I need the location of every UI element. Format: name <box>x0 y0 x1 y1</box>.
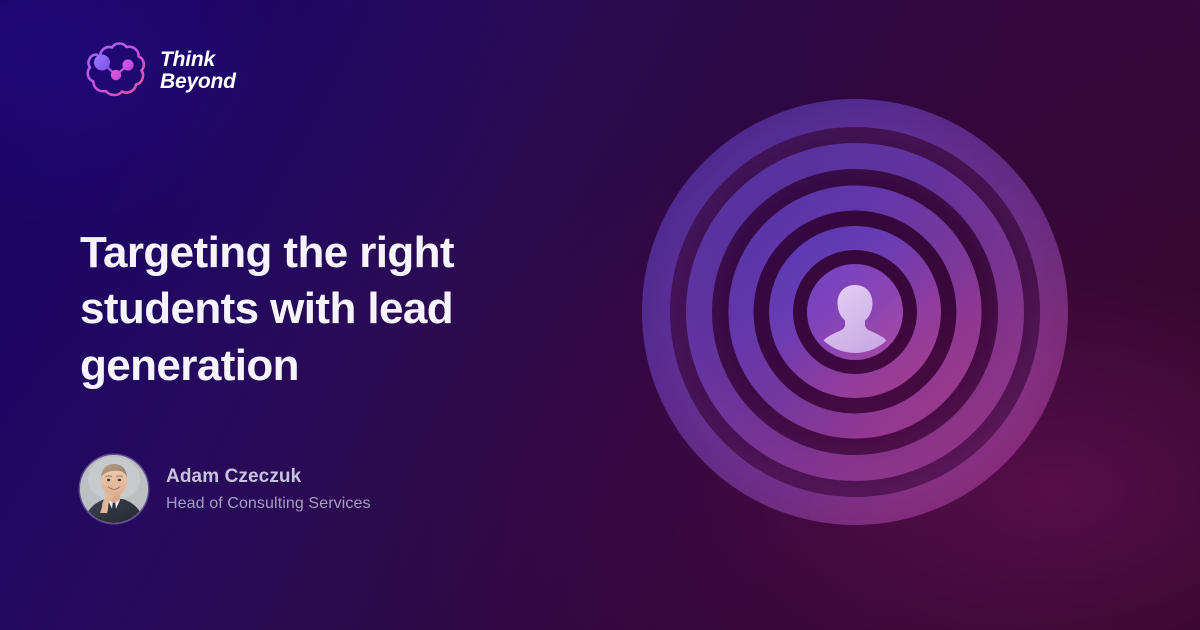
brand-logo[interactable]: Think Beyond <box>80 40 236 102</box>
brand-name: Think Beyond <box>160 49 236 93</box>
author-byline: Adam Czeczuk Head of Consulting Services <box>80 455 371 523</box>
brand-name-line1: Think <box>160 49 236 71</box>
avatar <box>80 455 148 523</box>
cloud-network-nodes-icon <box>80 40 148 102</box>
author-role: Head of Consulting Services <box>166 495 371 513</box>
page-title: Targeting the right students with lead g… <box>80 225 500 394</box>
brand-name-line2: Beyond <box>160 71 236 93</box>
author-name: Adam Czeczuk <box>166 466 371 488</box>
author-meta: Adam Czeczuk Head of Consulting Services <box>166 466 371 513</box>
share-card: Think Beyond Targeting the right student… <box>0 0 1200 630</box>
target-rings-graphic <box>640 97 1070 527</box>
